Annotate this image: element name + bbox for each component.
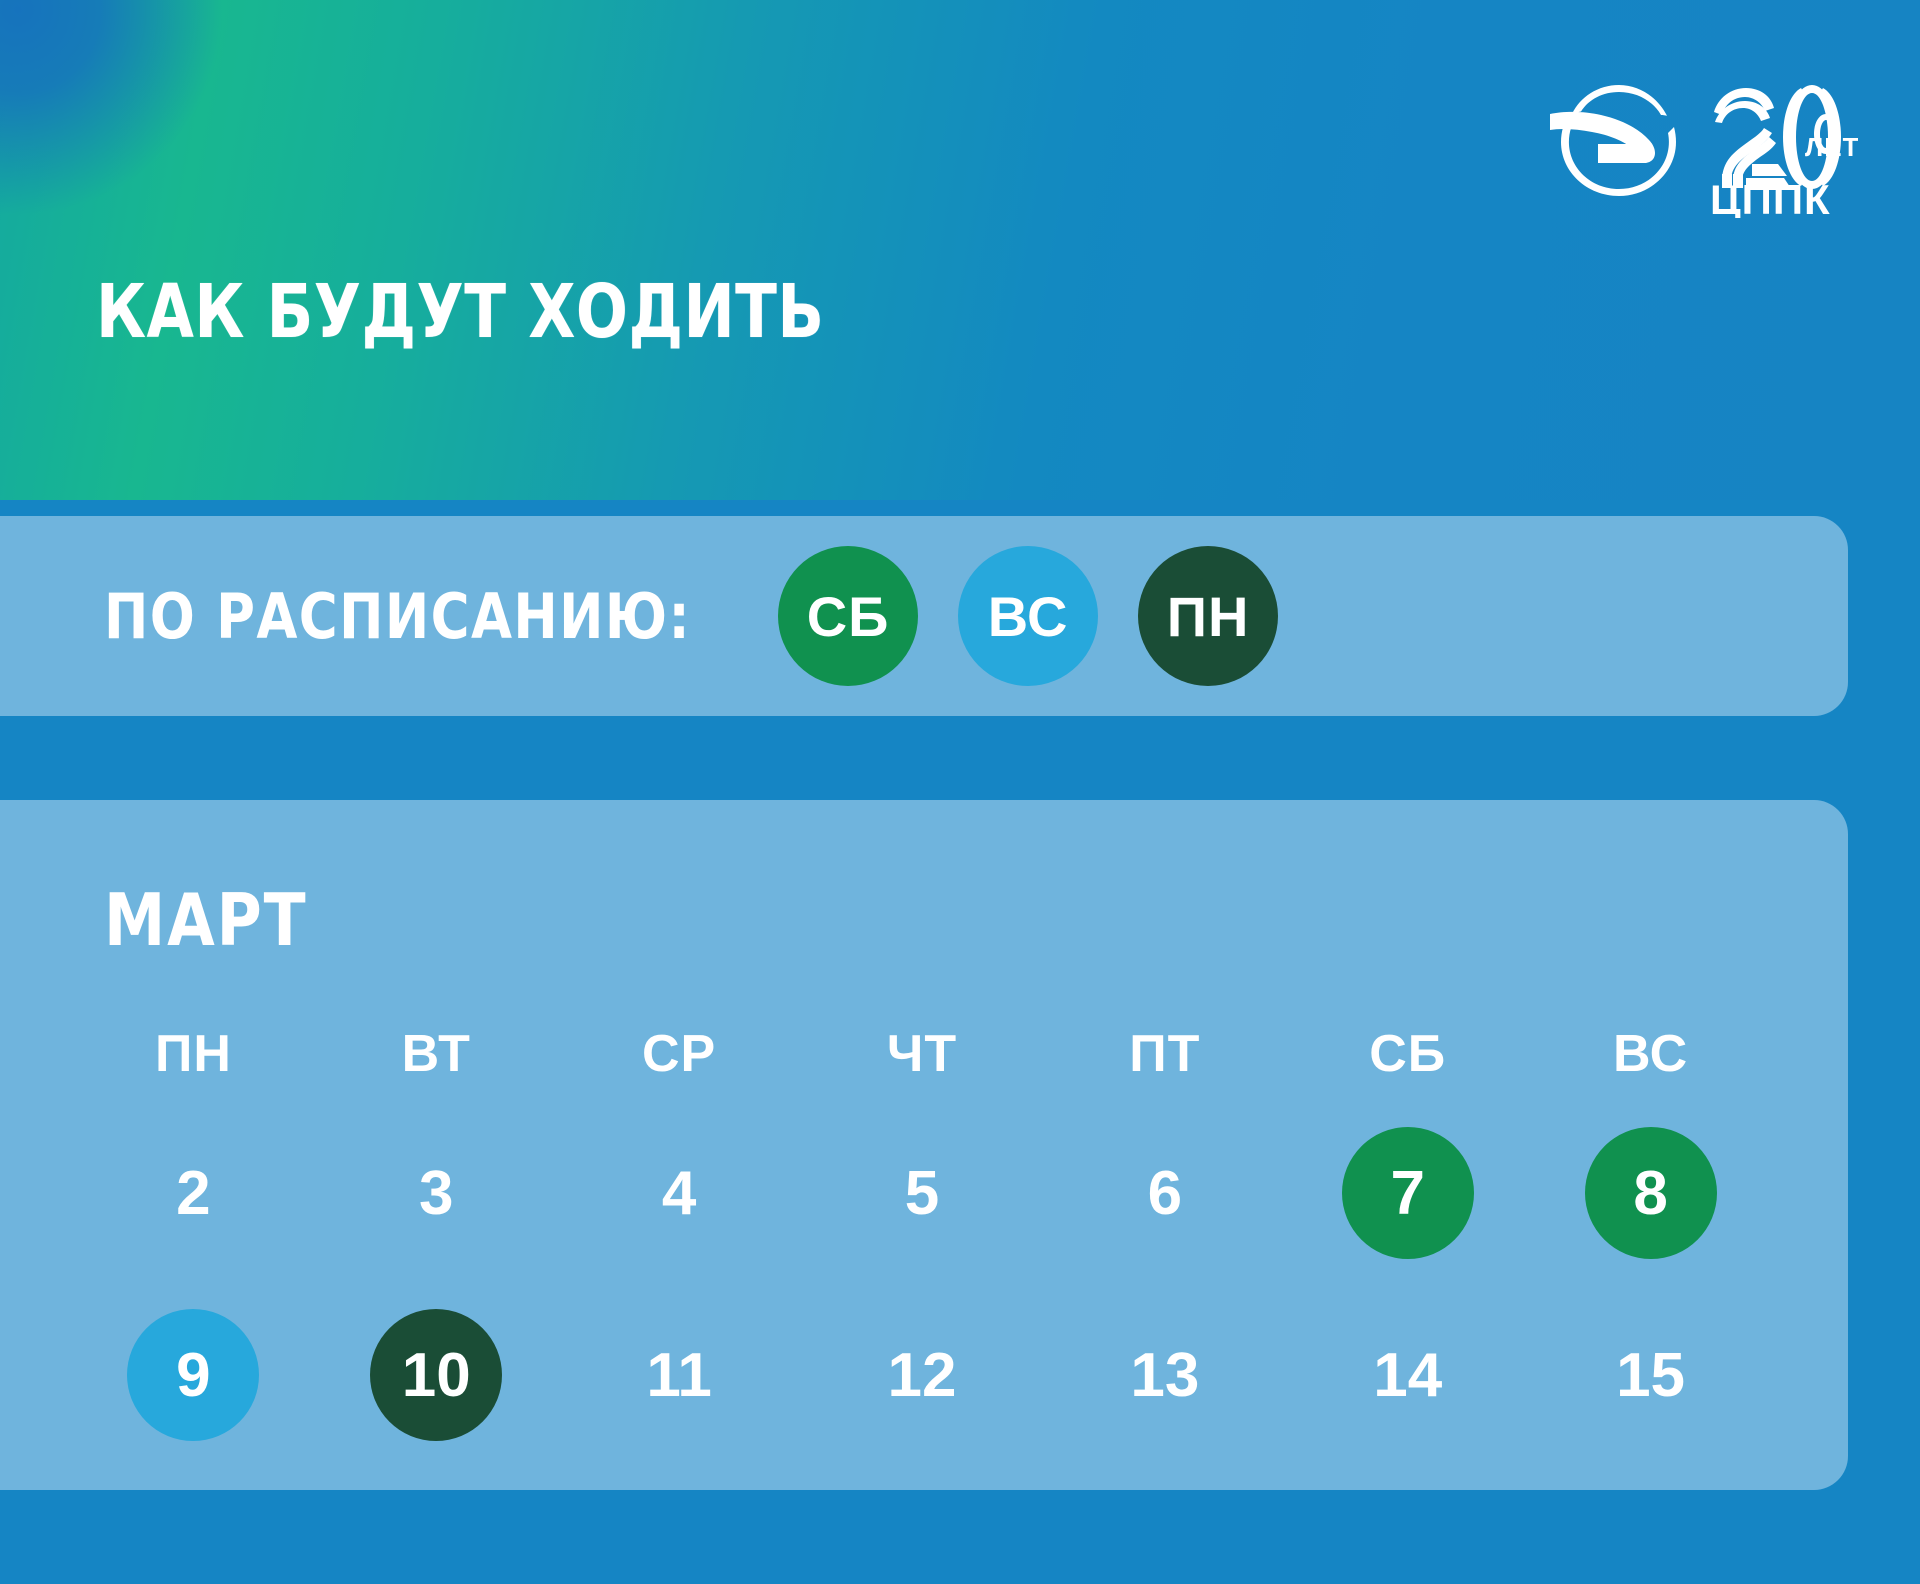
calendar-day: 12	[856, 1309, 988, 1441]
calendar-day: 10	[370, 1309, 502, 1441]
calendar-day: 13	[1099, 1309, 1231, 1441]
schedule-badge-pn[interactable]: ПН	[1138, 546, 1278, 686]
calendar-weekday-mon: ПН	[72, 1006, 315, 1102]
calendar-weekday-fri: ПТ	[1043, 1006, 1286, 1102]
schedule-badge-sb[interactable]: СБ	[778, 546, 918, 686]
header-banner: КАК БУДУТ ХОДИТЬ ПРИГОРОДНЫЕ ПОЕЗДА В ПР…	[0, 0, 1920, 500]
schedule-label: ПО РАСПИСАНИЮ:	[104, 580, 691, 653]
calendar-day: 8	[1585, 1127, 1717, 1259]
calendar-day-cell[interactable]: 9	[72, 1284, 315, 1466]
calendar-day: 3	[370, 1127, 502, 1259]
anniversary-20-years-logo: ЛЕТ ЦППК	[1708, 78, 1858, 218]
calendar-day-cell[interactable]: 6	[1043, 1102, 1286, 1284]
calendar-day: 6	[1099, 1127, 1231, 1259]
calendar-day-cell[interactable]: 5	[801, 1102, 1044, 1284]
calendar-weekday-tue: ВТ	[315, 1006, 558, 1102]
calendar-day-cell[interactable]: 10	[315, 1284, 558, 1466]
calendar-day: 9	[127, 1309, 259, 1441]
calendar-day-cell[interactable]: 3	[315, 1102, 558, 1284]
calendar-weekday-sun: ВС	[1529, 1006, 1772, 1102]
calendar-day: 4	[613, 1127, 745, 1259]
page-title-line-1: КАК БУДУТ ХОДИТЬ	[96, 272, 1166, 353]
calendar-day: 5	[856, 1127, 988, 1259]
calendar-day-cell[interactable]: 14	[1286, 1284, 1529, 1466]
calendar-day: 14	[1342, 1309, 1474, 1441]
calendar-weekday-sat: СБ	[1286, 1006, 1529, 1102]
calendar-weekday-wed: СР	[558, 1006, 801, 1102]
calendar-day-cell[interactable]: 12	[801, 1284, 1044, 1466]
page-title: КАК БУДУТ ХОДИТЬ ПРИГОРОДНЫЕ ПОЕЗДА В ПР…	[96, 110, 1166, 500]
brand-logo: ЛЕТ ЦППК	[1544, 78, 1858, 218]
calendar-day-cell[interactable]: 7	[1286, 1102, 1529, 1284]
schedule-panel: ПО РАСПИСАНИЮ: СБ ВС ПН	[0, 516, 1848, 716]
calendar-weekday-thu: ЧТ	[801, 1006, 1044, 1102]
calendar-day: 7	[1342, 1127, 1474, 1259]
calendar-day: 2	[127, 1127, 259, 1259]
calendar-day-cell[interactable]: 13	[1043, 1284, 1286, 1466]
schedule-badges: СБ ВС ПН	[778, 546, 1278, 686]
rzd-train-emblem-icon	[1544, 78, 1694, 196]
calendar-day-cell[interactable]: 4	[558, 1102, 801, 1284]
svg-text:ЛЕТ: ЛЕТ	[1805, 132, 1858, 162]
calendar-month-title: МАРТ	[104, 878, 308, 962]
calendar-panel: МАРТ ПН ВТ СР ЧТ ПТ СБ ВС 2 3 4 5 6 7 8 …	[0, 800, 1848, 1490]
calendar-day: 15	[1585, 1309, 1717, 1441]
schedule-badge-vs[interactable]: ВС	[958, 546, 1098, 686]
calendar-day: 11	[613, 1309, 745, 1441]
calendar-day-cell[interactable]: 8	[1529, 1102, 1772, 1284]
calendar-day-cell[interactable]: 15	[1529, 1284, 1772, 1466]
calendar-day-cell[interactable]: 11	[558, 1284, 801, 1466]
calendar-day-cell[interactable]: 2	[72, 1102, 315, 1284]
calendar-grid: ПН ВТ СР ЧТ ПТ СБ ВС 2 3 4 5 6 7 8 9 10 …	[72, 1006, 1772, 1466]
svg-text:ЦППК: ЦППК	[1710, 176, 1831, 218]
